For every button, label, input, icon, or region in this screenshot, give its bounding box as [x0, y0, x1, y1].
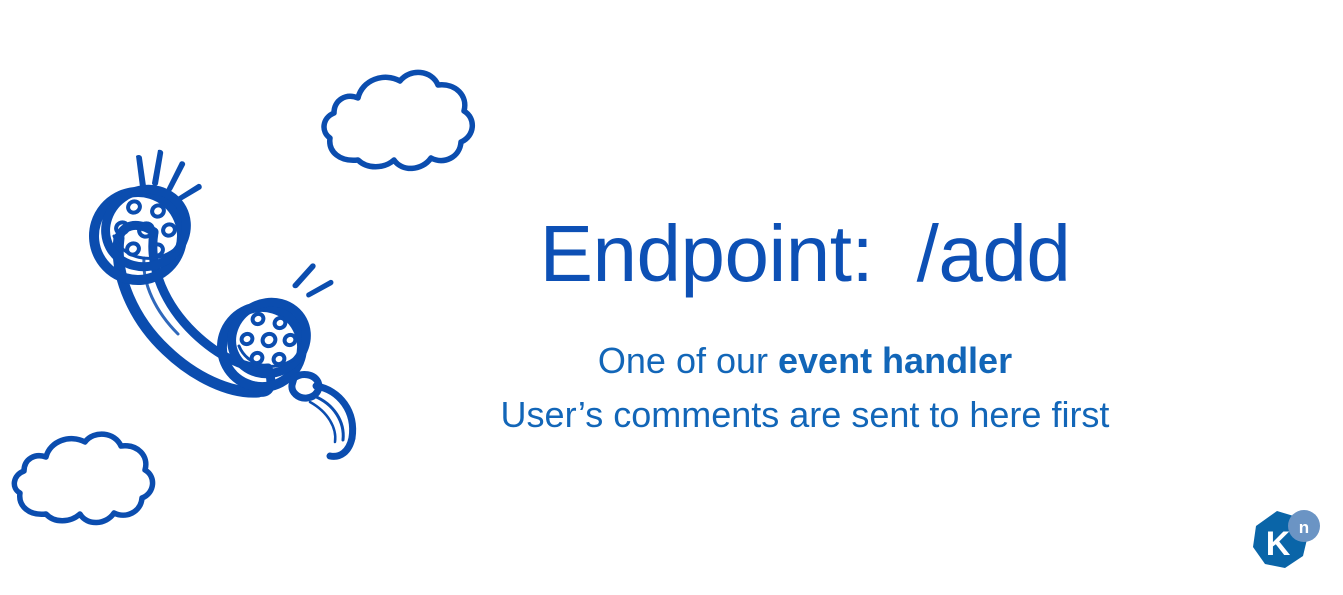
slide-canvas: Endpoint: /add One of our event handler … [0, 0, 1343, 595]
cloud-illustration-top [318, 62, 478, 177]
telephone-handset-illustration [62, 140, 372, 460]
subtitle-line-2: User’s comments are sent to here first [440, 388, 1170, 442]
slide-text-block: Endpoint: /add One of our event handler … [440, 214, 1170, 442]
logo-letter-n: n [1299, 518, 1309, 537]
cloud-illustration-bottom [8, 425, 160, 529]
subtitle-line-1-prefix: One of our [598, 340, 778, 381]
subtitle-line-1-emphasis: event handler [778, 340, 1012, 381]
subtitle-block: One of our event handler User’s comments… [440, 334, 1170, 442]
logo-letter-k: K [1266, 525, 1291, 563]
subtitle-line-1: One of our event handler [440, 334, 1170, 388]
page-title: Endpoint: /add [440, 214, 1170, 294]
brand-logo: K n [1247, 507, 1321, 579]
